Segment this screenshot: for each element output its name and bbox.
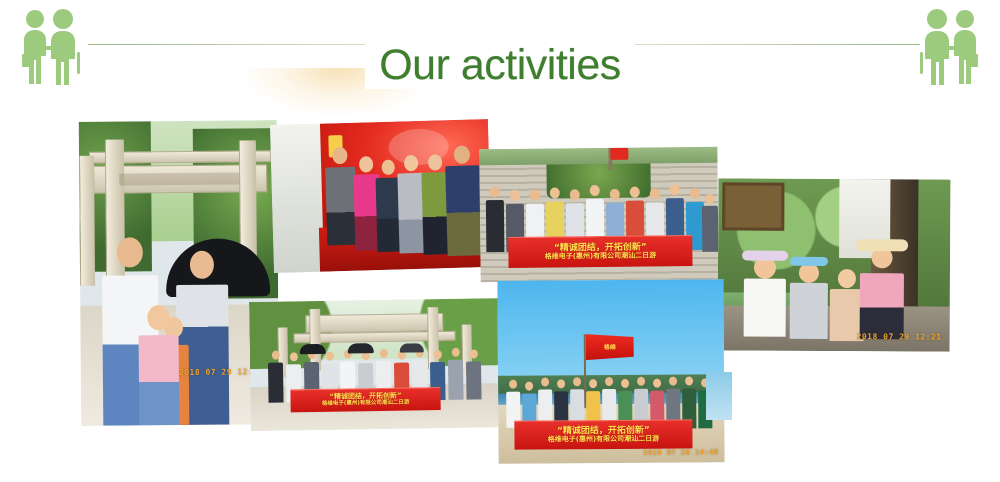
banner-line-2: 格维电子(惠州)有限公司潮汕二日游: [545, 252, 656, 261]
activities-photo-collage: 2018 07 29 12: 快乐: [0, 95, 1000, 482]
photo-group-archway[interactable]: “精诚团结，开拓创新” 格维电子(惠州)有限公司潮汕二日游: [249, 298, 509, 431]
photo-red-carpet-group[interactable]: 快乐: [270, 119, 492, 273]
photo-banner: “精诚团结，开拓创新” 格维电子(惠州)有限公司潮汕二日游: [508, 235, 692, 268]
photo-family-archway[interactable]: 2018 07 29 12:: [79, 120, 280, 426]
photo-banner: “精诚团结，开拓创新” 格维电子(惠州)有限公司潮汕二日游: [514, 419, 692, 449]
page-title: Our activities: [0, 41, 1000, 90]
company-flag: 格维: [586, 334, 634, 360]
photo-timestamp: 2018 07 29 12:: [179, 367, 254, 377]
banner-line-2: 格维电子(惠州)有限公司潮汕二日游: [548, 436, 659, 444]
photo-timestamp: 2018 07 29 12:21: [857, 332, 942, 341]
photo-stairs-group[interactable]: “精诚团结，开拓创新” 格维电子(惠州)有限公司潮汕二日游: [479, 147, 718, 282]
page-title-text: Our activities: [365, 41, 635, 89]
decorative-blue-sliver: [706, 372, 732, 420]
photo-timestamp: 2018 07 28 14:40: [643, 448, 718, 457]
photo-garden-kids[interactable]: 2018 07 29 12:21: [718, 178, 951, 351]
banner-line-2: 格维电子(惠州)有限公司潮汕二日游: [322, 400, 410, 407]
photo-banner: “精诚团结，开拓创新” 格维电子(惠州)有限公司潮汕二日游: [290, 387, 440, 412]
photo-beach-group[interactable]: 格维 “精诚团结，开拓创新” 格维电子(惠州)有限公司潮汕二日游 2018 07…: [497, 279, 724, 464]
page-header: Our activities: [0, 0, 1000, 95]
